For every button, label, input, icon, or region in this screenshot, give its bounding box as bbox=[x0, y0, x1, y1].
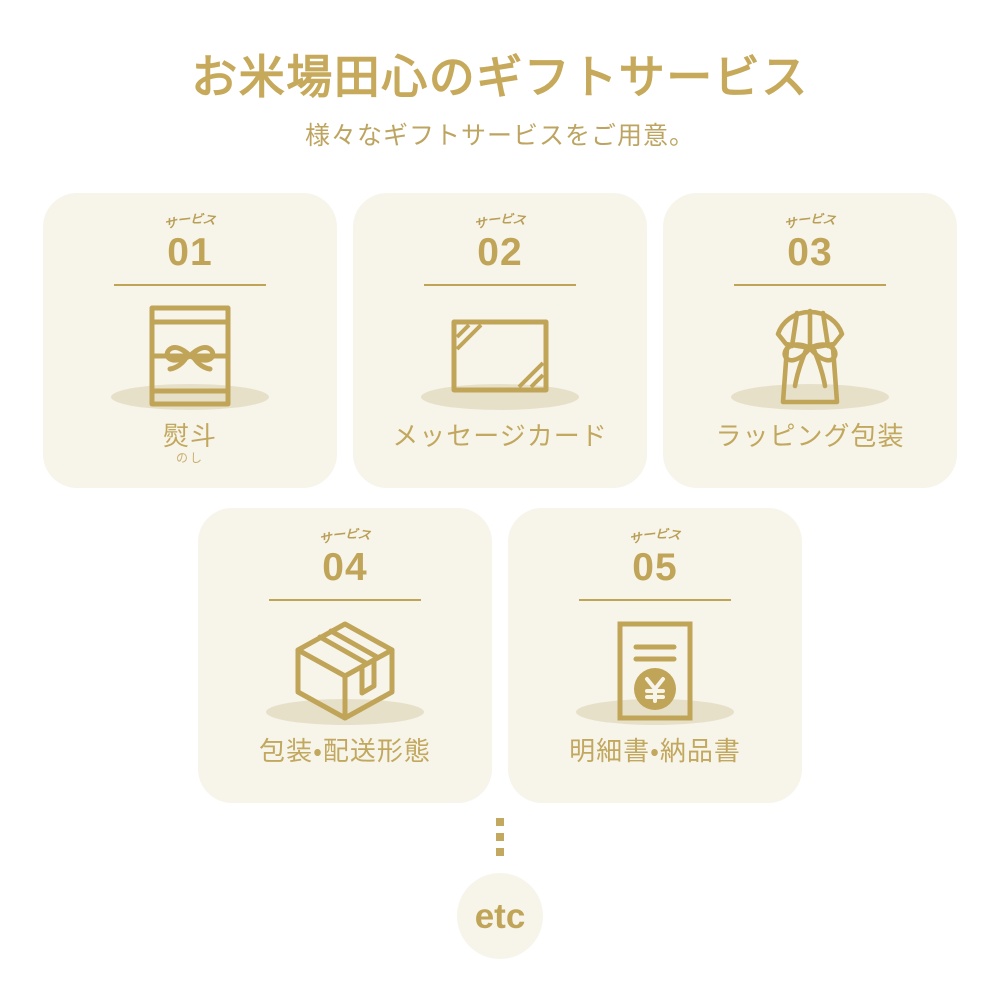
dot bbox=[496, 833, 504, 841]
service-card-04[interactable]: サービス 04 包装・配送形態 bbox=[198, 508, 492, 803]
service-label-02: メッセージカード bbox=[392, 422, 607, 451]
service-card-row-2: サービス 04 包装・配送形態 bbox=[0, 508, 1000, 803]
divider bbox=[734, 284, 886, 286]
service-badge-05: サービス bbox=[629, 527, 681, 545]
service-badge-03: サービス bbox=[784, 212, 836, 230]
service-number-03: 03 bbox=[787, 233, 832, 272]
dot bbox=[496, 848, 504, 856]
service-label-text-03: ラッピング包装 bbox=[715, 421, 904, 451]
etc-section: etc bbox=[0, 818, 1000, 959]
service-label-03: ラッピング包装 bbox=[715, 422, 904, 451]
divider bbox=[579, 599, 731, 601]
message-card-icon bbox=[415, 298, 585, 414]
divider bbox=[269, 599, 421, 601]
service-label-05: 明細書・納品書 bbox=[569, 737, 741, 766]
service-label-text-05: 明細書・納品書 bbox=[569, 736, 741, 766]
service-number-02: 02 bbox=[477, 233, 522, 272]
service-number-01: 01 bbox=[167, 233, 212, 272]
service-number-05: 05 bbox=[632, 548, 677, 587]
gift-services-page: お米場田心のギフトサービス 様々なギフトサービスをご用意。 サービス 01 bbox=[0, 0, 1000, 1000]
dot bbox=[496, 818, 504, 826]
gift-pouch-icon bbox=[725, 298, 895, 414]
service-card-row-1: サービス 01 bbox=[0, 193, 1000, 488]
service-card-grid: サービス 01 bbox=[0, 193, 1000, 803]
service-badge-02: サービス bbox=[474, 212, 526, 230]
service-card-02[interactable]: サービス 02 メッセージカード bbox=[353, 193, 647, 488]
divider bbox=[114, 284, 266, 286]
service-label-01: 熨斗 のし bbox=[163, 422, 217, 465]
vertical-dots-icon bbox=[496, 818, 504, 856]
service-label-text-04: 包装・配送形態 bbox=[259, 736, 431, 766]
etc-label: etc bbox=[475, 899, 526, 934]
etc-badge[interactable]: etc bbox=[457, 873, 543, 959]
service-label-04: 包装・配送形態 bbox=[259, 737, 431, 766]
service-label-text-01: 熨斗 bbox=[163, 421, 217, 451]
service-label-text-02: メッセージカード bbox=[392, 421, 607, 451]
service-card-05[interactable]: サービス 05 bbox=[508, 508, 802, 803]
service-card-01[interactable]: サービス 01 bbox=[43, 193, 337, 488]
invoice-yen-document-icon bbox=[570, 613, 740, 729]
page-header: お米場田心のギフトサービス 様々なギフトサービスをご用意。 bbox=[0, 0, 1000, 151]
service-card-03[interactable]: サービス 03 bbox=[663, 193, 957, 488]
noshi-gift-wrap-icon bbox=[105, 298, 275, 414]
service-number-04: 04 bbox=[322, 548, 367, 587]
service-badge-04: サービス bbox=[319, 527, 371, 545]
divider bbox=[424, 284, 576, 286]
cardboard-box-icon bbox=[260, 613, 430, 729]
page-title: お米場田心のギフトサービス bbox=[0, 50, 1000, 105]
service-badge-01: サービス bbox=[164, 212, 216, 230]
page-subtitle: 様々なギフトサービスをご用意。 bbox=[0, 121, 1000, 151]
service-label-ruby-01: のし bbox=[163, 452, 217, 465]
